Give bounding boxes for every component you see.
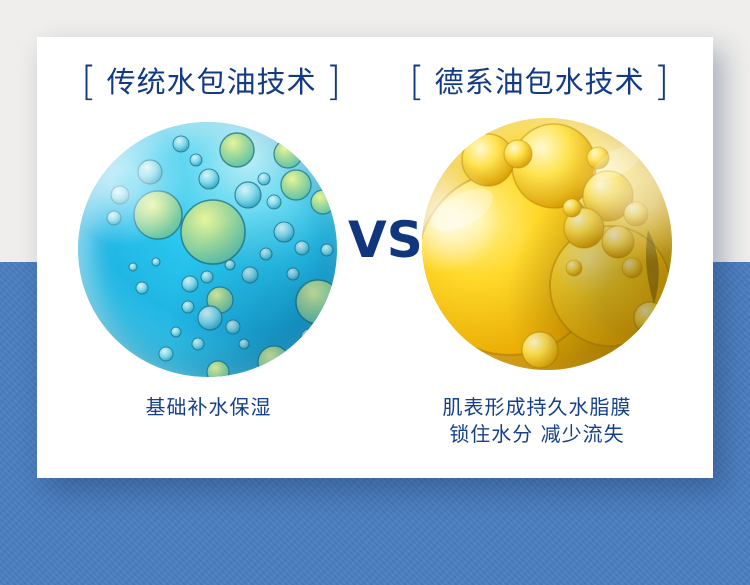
right-bracket-close-icon: ]	[654, 64, 671, 100]
product-comparison-banner: [ 传统水包油技术 ] [ 德系油包水技术 ]	[0, 0, 750, 585]
oil-sphere-bubbles-icon	[422, 118, 672, 370]
left-caption: 基础补水保湿	[61, 394, 356, 421]
right-technology-heading: [ 德系油包水技术 ]	[409, 64, 670, 100]
left-bracket-close-icon: ]	[326, 64, 343, 100]
water-sphere-illustration	[78, 122, 337, 377]
right-heading-text: 德系油包水技术	[435, 68, 645, 97]
vs-label: VS	[348, 215, 423, 265]
left-bracket-open-icon: [	[81, 64, 98, 100]
left-heading-text: 传统水包油技术	[107, 68, 317, 97]
water-sphere-bubbles-icon	[78, 122, 337, 377]
right-bracket-open-icon: [	[409, 64, 426, 100]
left-technology-heading: [ 传统水包油技术 ]	[81, 64, 342, 100]
oil-sphere-illustration	[422, 118, 672, 370]
comparison-card: [ 传统水包油技术 ] [ 德系油包水技术 ]	[37, 37, 713, 478]
right-caption: 肌表形成持久水脂膜 锁住水分 减少流失	[377, 394, 697, 448]
